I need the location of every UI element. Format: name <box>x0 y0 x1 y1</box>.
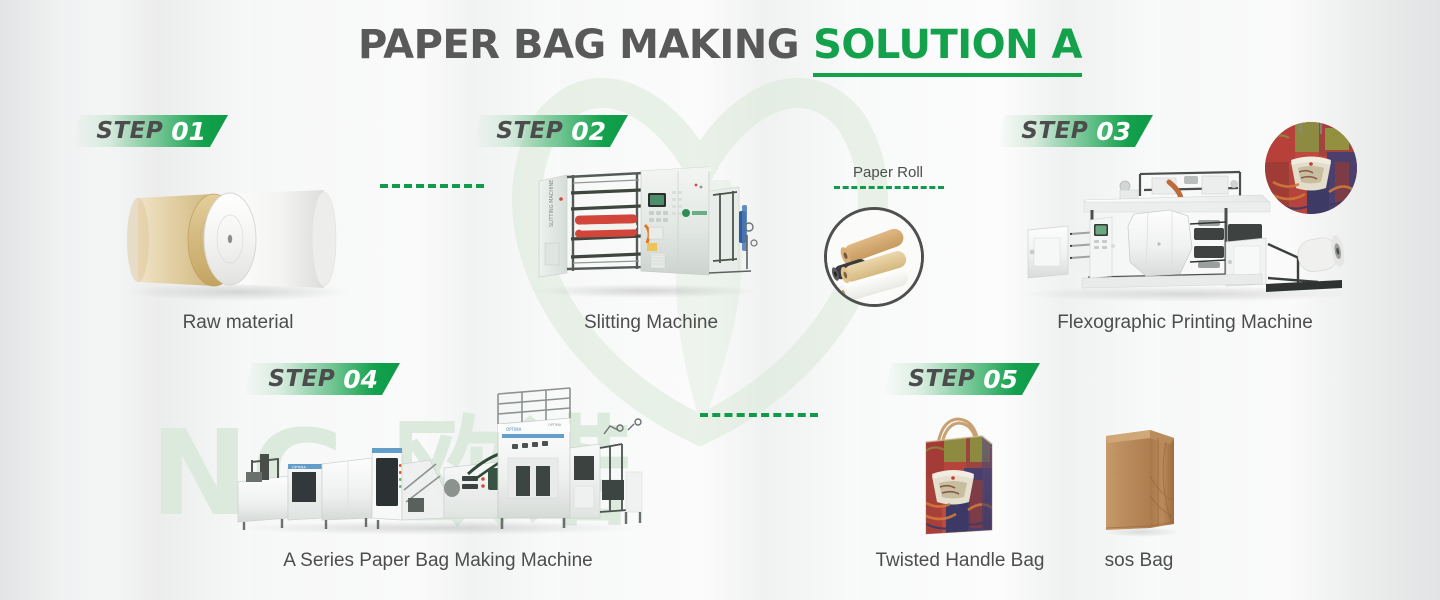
step-caption-03: Flexographic Printing Machine <box>1035 312 1335 334</box>
background-sheen-band <box>0 0 60 600</box>
background-sheen-band <box>1360 0 1440 600</box>
step-badge-number: 05 <box>983 365 1018 394</box>
paper-roll-inset-label: Paper Roll <box>818 164 958 181</box>
connector-step1-step2 <box>380 184 484 188</box>
svg-text:OPTIMA: OPTIMA <box>548 423 562 427</box>
step-badge-05: STEP 05 <box>884 363 1040 395</box>
sos-bag-photo <box>1096 416 1188 538</box>
step-badge-word: STEP <box>496 118 563 144</box>
step-badge-word: STEP <box>1021 118 1088 144</box>
step-badge-02: STEP 02 <box>472 115 628 147</box>
connector-step4-step5 <box>700 413 818 417</box>
step-caption-04: A Series Paper Bag Making Machine <box>258 550 618 572</box>
step-badge-01: STEP 01 <box>72 115 228 147</box>
step-badge-word: STEP <box>908 366 975 392</box>
step-badge-03: STEP 03 <box>997 115 1153 147</box>
step-caption-05-bag2: sos Bag <box>1080 550 1198 572</box>
step-badge-number: 01 <box>171 117 206 146</box>
background-sheen-band <box>760 0 860 600</box>
paper-roll-inset-underline <box>834 186 944 189</box>
printed-artwork-circle-photo <box>1265 122 1357 214</box>
step-badge-number: 02 <box>571 117 606 146</box>
page-title: PAPER BAG MAKINGSOLUTION A <box>0 22 1440 77</box>
step-badge-number: 03 <box>1096 117 1131 146</box>
twisted-handle-bag-photo <box>908 404 1006 539</box>
step-caption-05-bag1: Twisted Handle Bag <box>862 550 1058 572</box>
svg-text:SLITTING MACHINE: SLITTING MACHINE <box>549 180 555 227</box>
page-title-main: PAPER BAG MAKING <box>358 22 799 68</box>
page-title-accent: SOLUTION A <box>813 22 1082 77</box>
step-badge-word: STEP <box>96 118 163 144</box>
paper-roll-circle-photo <box>824 207 924 307</box>
paper-bag-making-machine-photo: OPTIMA <box>230 372 650 537</box>
paper-roll-raw-material-photo <box>118 170 358 300</box>
svg-text:OPTIMA: OPTIMA <box>506 427 522 432</box>
step-caption-01: Raw material <box>138 312 338 334</box>
slitting-machine-photo: SLITTING MACHINE <box>523 165 768 300</box>
step-caption-02: Slitting Machine <box>545 312 757 334</box>
svg-text:OPTIMA: OPTIMA <box>292 466 306 470</box>
infographic-canvas: NG 欧诺 PAPER BAG MAKINGSOLUTION A STEP 01 <box>0 0 1440 600</box>
